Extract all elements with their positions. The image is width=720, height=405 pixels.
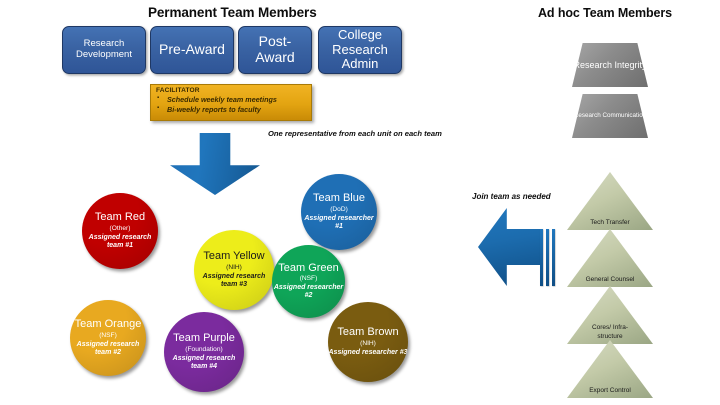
arrow-tail-stripe [546,229,549,286]
adhoc-shape-label: Research Integrity [573,60,646,70]
team-name: Team Yellow [203,251,264,262]
unit-box-label: Post-Award [241,34,309,65]
adhoc-shape-label: General Counsel [581,276,639,284]
adhoc-shape-research-integrity[interactable]: Research Integrity [572,43,648,87]
diagram-canvas: Permanent Team Members Ad hoc Team Membe… [0,0,720,405]
adhoc-shape-export-control[interactable]: Export Control [567,340,653,398]
left-arrow-group [478,208,560,286]
arrow-tail-stripe [540,229,543,286]
unit-box-label: College Research Admin [321,28,399,72]
arrow-tail-stripe [552,229,555,286]
adhoc-team-heading: Ad hoc Team Members [538,6,672,20]
adhoc-shape-general-counsel[interactable]: General Counsel [567,229,653,287]
facilitator-box[interactable]: FACILITATOR Schedule weekly team meeting… [150,84,312,121]
team-circle-red[interactable]: Team Red (Other) Assigned research team … [82,193,158,269]
team-circle-yellow[interactable]: Team Yellow (NIH) Assigned research team… [194,230,274,310]
team-circle-brown[interactable]: Team Brown (NIH) Assigned researcher #3 [328,302,408,382]
team-agency: (NSF) [300,274,318,284]
team-agency: (Foundation) [185,345,222,355]
adhoc-shape-research-communication[interactable]: Research Communication [572,94,648,138]
permanent-team-heading: Permanent Team Members [148,5,317,20]
facilitator-bullet: Schedule weekly team meetings [156,95,307,105]
team-agency: (NIH) [360,339,376,349]
facilitator-bullet-list: Schedule weekly team meetings Bi-weekly … [156,95,307,115]
unit-box-pre-award[interactable]: Pre-Award [150,26,234,74]
team-name: Team Green [278,263,339,274]
team-agency: (NSF) [99,331,117,341]
team-name: Team Red [95,212,145,223]
join-team-caption: Join team as needed [472,192,551,201]
team-name: Team Orange [75,319,142,330]
left-arrow-icon [478,208,542,286]
team-assignment: Assigned researcher #2 [272,284,345,300]
unit-box-college-research-admin[interactable]: College Research Admin [318,26,402,74]
team-assignment: Assigned research team #2 [70,341,146,357]
team-name: Team Brown [337,327,398,338]
adhoc-shape-label: Cores/ Infra-structure [581,324,639,341]
unit-box-label: Research Development [65,39,143,60]
unit-box-label: Pre-Award [159,42,225,58]
adhoc-shape-tech-transfer[interactable]: Tech Transfer [567,172,653,230]
team-circle-blue[interactable]: Team Blue (DoD) Assigned researcher #1 [301,174,377,250]
representative-caption: One representative from each unit on eac… [268,129,442,138]
unit-box-post-award[interactable]: Post-Award [238,26,312,74]
team-assignment: Assigned research team #3 [194,273,274,289]
team-circle-green[interactable]: Team Green (NSF) Assigned researcher #2 [272,245,345,318]
team-circle-purple[interactable]: Team Purple (Foundation) Assigned resear… [164,312,244,392]
team-assignment: Assigned research team #4 [164,355,244,371]
team-name: Team Blue [313,193,365,204]
team-name: Team Purple [173,333,235,344]
adhoc-shape-label: Research Communication [574,112,646,119]
facilitator-bullet: Bi-weekly reports to faculty [156,105,307,115]
facilitator-title: FACILITATOR [156,87,307,94]
team-circle-orange[interactable]: Team Orange (NSF) Assigned research team… [70,300,146,376]
team-agency: (Other) [110,224,131,234]
team-agency: (DoD) [330,205,348,215]
team-agency: (NIH) [226,263,242,273]
unit-box-research-development[interactable]: Research Development [62,26,146,74]
team-assignment: Assigned researcher #1 [301,215,377,231]
adhoc-shape-label: Export Control [581,387,639,395]
team-assignment: Assigned researcher #3 [329,349,408,357]
team-assignment: Assigned research team #1 [82,234,158,250]
down-arrow-icon [170,133,260,195]
adhoc-shape-cores-infrastructure[interactable]: Cores/ Infra-structure [567,286,653,344]
adhoc-shape-label: Tech Transfer [581,219,639,227]
